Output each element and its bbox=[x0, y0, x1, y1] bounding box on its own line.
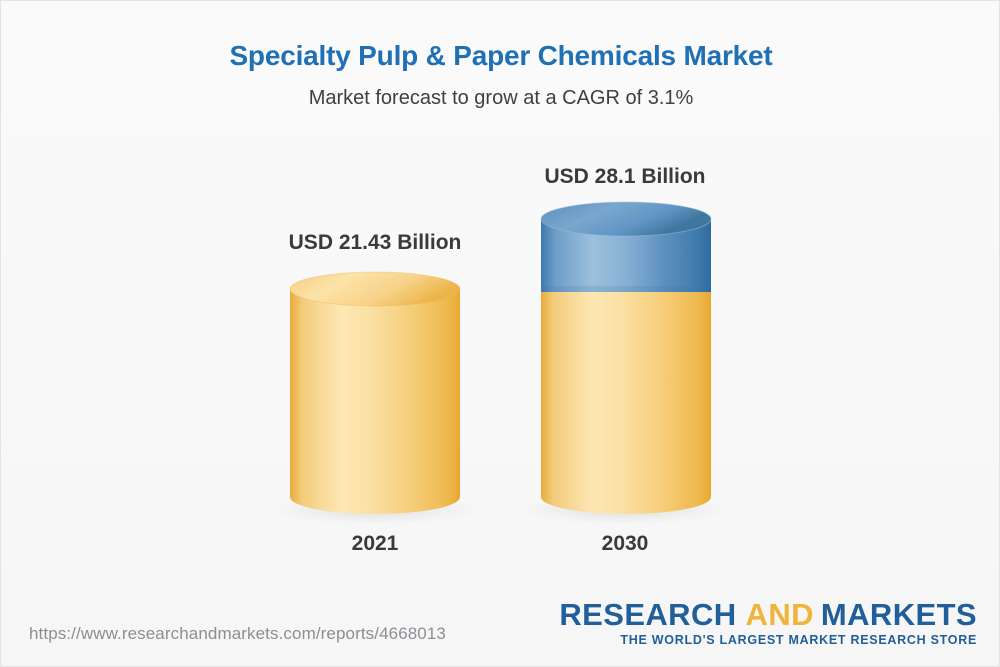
chart-subtitle: Market forecast to grow at a CAGR of 3.1… bbox=[1, 83, 1000, 113]
bar-2021[interactable] bbox=[267, 272, 483, 525]
logo-text-research: RESEARCH bbox=[559, 597, 736, 632]
logo-tagline: THE WORLD'S LARGEST MARKET RESEARCH STOR… bbox=[559, 632, 977, 648]
source-url[interactable]: https://www.researchandmarkets.com/repor… bbox=[29, 624, 446, 644]
brand-logo[interactable]: RESEARCHANDMARKETS THE WORLD'S LARGEST M… bbox=[559, 598, 977, 648]
chart-header: Specialty Pulp & Paper Chemicals Market … bbox=[1, 1, 1000, 113]
bar-2030[interactable] bbox=[517, 202, 733, 525]
bar-shadow bbox=[517, 495, 733, 525]
bar-top-rim bbox=[290, 272, 460, 306]
bar-blue-base-shade bbox=[541, 286, 711, 292]
bar-top-cap-blue bbox=[541, 202, 711, 236]
page-title: Specialty Pulp & Paper Chemicals Market bbox=[1, 39, 1000, 73]
category-label-2030: 2030 bbox=[475, 532, 775, 556]
bar-top-rim bbox=[541, 202, 711, 236]
logo-text-markets: MARKETS bbox=[821, 597, 977, 632]
chart-page: Specialty Pulp & Paper Chemicals Market … bbox=[0, 0, 1000, 667]
logo-wordmark: RESEARCHANDMARKETS bbox=[559, 598, 977, 631]
bar-body-yellow bbox=[541, 292, 711, 514]
bar-value-label-2021: USD 21.43 Billion bbox=[225, 231, 525, 255]
bar-top-cap-yellow bbox=[290, 272, 460, 306]
bar-body-yellow bbox=[290, 289, 460, 514]
logo-text-and: AND bbox=[746, 597, 814, 632]
bar-value-label-2030: USD 28.1 Billion bbox=[475, 165, 775, 189]
category-label-2021: 2021 bbox=[225, 532, 525, 556]
bar-body-blue bbox=[541, 219, 711, 292]
bar-shadow bbox=[267, 495, 483, 525]
